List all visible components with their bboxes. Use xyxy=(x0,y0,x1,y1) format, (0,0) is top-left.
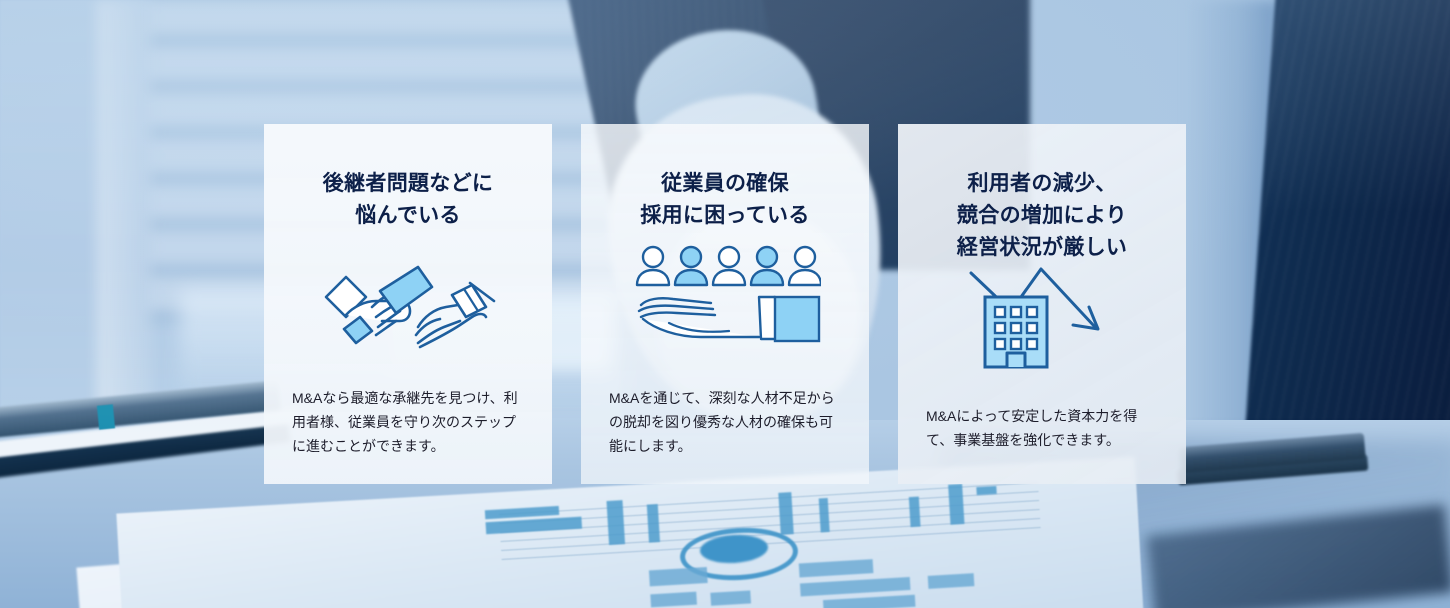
card-title: 利用者の減少、 競合の増加により 経営状況が厳しい xyxy=(957,168,1127,264)
card-title-line-2: 競合の増加により xyxy=(957,204,1127,227)
card-title-line-2: 悩んでいる xyxy=(355,204,460,227)
benefit-cards: 後継者問題などに 悩んでいる xyxy=(264,124,1186,484)
card-title: 後継者問題などに 悩んでいる xyxy=(323,168,493,232)
page-root: 後継者問題などに 悩んでいる xyxy=(0,0,1450,608)
card-title-line-1: 後継者問題などに xyxy=(323,172,493,195)
card-succession[interactable]: 後継者問題などに 悩んでいる xyxy=(264,124,552,484)
building-declining-arrow-icon xyxy=(926,258,1158,376)
card-body: M&Aなら最適な承継先を見つけ、利用者様、従業員を守り次のステップに進むことがで… xyxy=(292,386,524,458)
people-on-hand-icon xyxy=(609,238,841,356)
card-title-line-1: 利用者の減少、 xyxy=(967,172,1116,195)
card-declining-business[interactable]: 利用者の減少、 競合の増加により 経営状況が厳しい xyxy=(898,124,1186,484)
card-recruiting[interactable]: 従業員の確保 採用に困っている xyxy=(581,124,869,484)
card-title: 従業員の確保 採用に困っている xyxy=(640,168,809,232)
notebook-bookmark xyxy=(97,404,115,429)
card-title-line-2: 採用に困っている xyxy=(640,204,809,227)
card-body: M&Aによって安定した資本力を得て、事業基盤を強化できます。 xyxy=(926,404,1158,452)
card-body: M&Aを通じて、深刻な人材不足からの脱却を図り優秀な人材の確保も可能にします。 xyxy=(609,386,841,458)
handshake-icon xyxy=(292,248,524,366)
card-title-line-1: 従業員の確保 xyxy=(661,172,789,195)
card-title-line-3: 経営状況が厳しい xyxy=(957,236,1127,259)
